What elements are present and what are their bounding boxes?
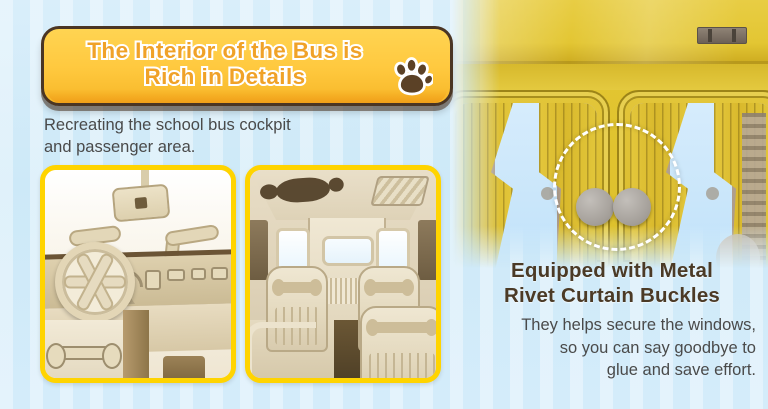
seat-bone-cutout [370,282,408,293]
cabin-rear-window [322,236,374,266]
page-title: The Interior of the Bus is Rich in Detai… [44,29,450,90]
cockpit-pedal [163,356,205,378]
page-title-line1: The Interior of the Bus is [66,38,384,64]
ceiling-vent [370,176,429,206]
right-heading-line1: Equipped with Metal [462,258,762,283]
bone-cutout-icon [53,346,115,360]
right-description: They helps secure the windows, so you ca… [462,314,756,382]
right-description-line2: so you can say goodbye to [462,337,756,360]
dashboard-button-2 [167,269,185,281]
left-description-line2: and passenger area. [44,136,404,158]
left-description: Recreating the school bus cockpit and pa… [44,114,404,158]
page-title-line2: Rich in Details [66,64,384,90]
seat-ribs [369,353,435,378]
dashboard-button-4 [211,267,228,280]
right-heading-line2: Rivet Curtain Buckles [462,283,762,308]
right-description-line1: They helps secure the windows, [462,314,756,337]
cabin-seat-front-right [360,306,436,378]
photo-cabin-image [250,170,436,378]
cabin-door-right [418,220,436,280]
rearview-mirror [112,184,171,223]
window-knob-icon [706,187,719,200]
left-description-line1: Recreating the school bus cockpit [44,114,404,136]
highlight-dashed-circle [553,123,681,251]
header-banner: The Interior of the Bus is Rich in Detai… [41,26,453,106]
seat-bone-cutout [372,322,432,333]
cabin-door-left [250,220,268,280]
cockpit-post [123,310,149,378]
paw-print-icon [391,57,433,97]
bus-roof [452,0,768,64]
right-description-line3: glue and save effort. [462,359,756,382]
seat-bone-cutout [278,282,316,293]
photo-cockpit [40,165,236,383]
dashboard-button-1 [145,270,161,290]
right-heading: Equipped with Metal Rivet Curtain Buckle… [462,258,762,308]
dashboard-button-3 [191,268,206,280]
bus-belt-line [452,64,768,90]
cabin-handrail [250,322,316,378]
photo-cockpit-image [45,170,231,378]
photo-cabin [245,165,441,383]
roof-latch-icon [697,27,747,44]
cabin-aisle [334,320,360,378]
